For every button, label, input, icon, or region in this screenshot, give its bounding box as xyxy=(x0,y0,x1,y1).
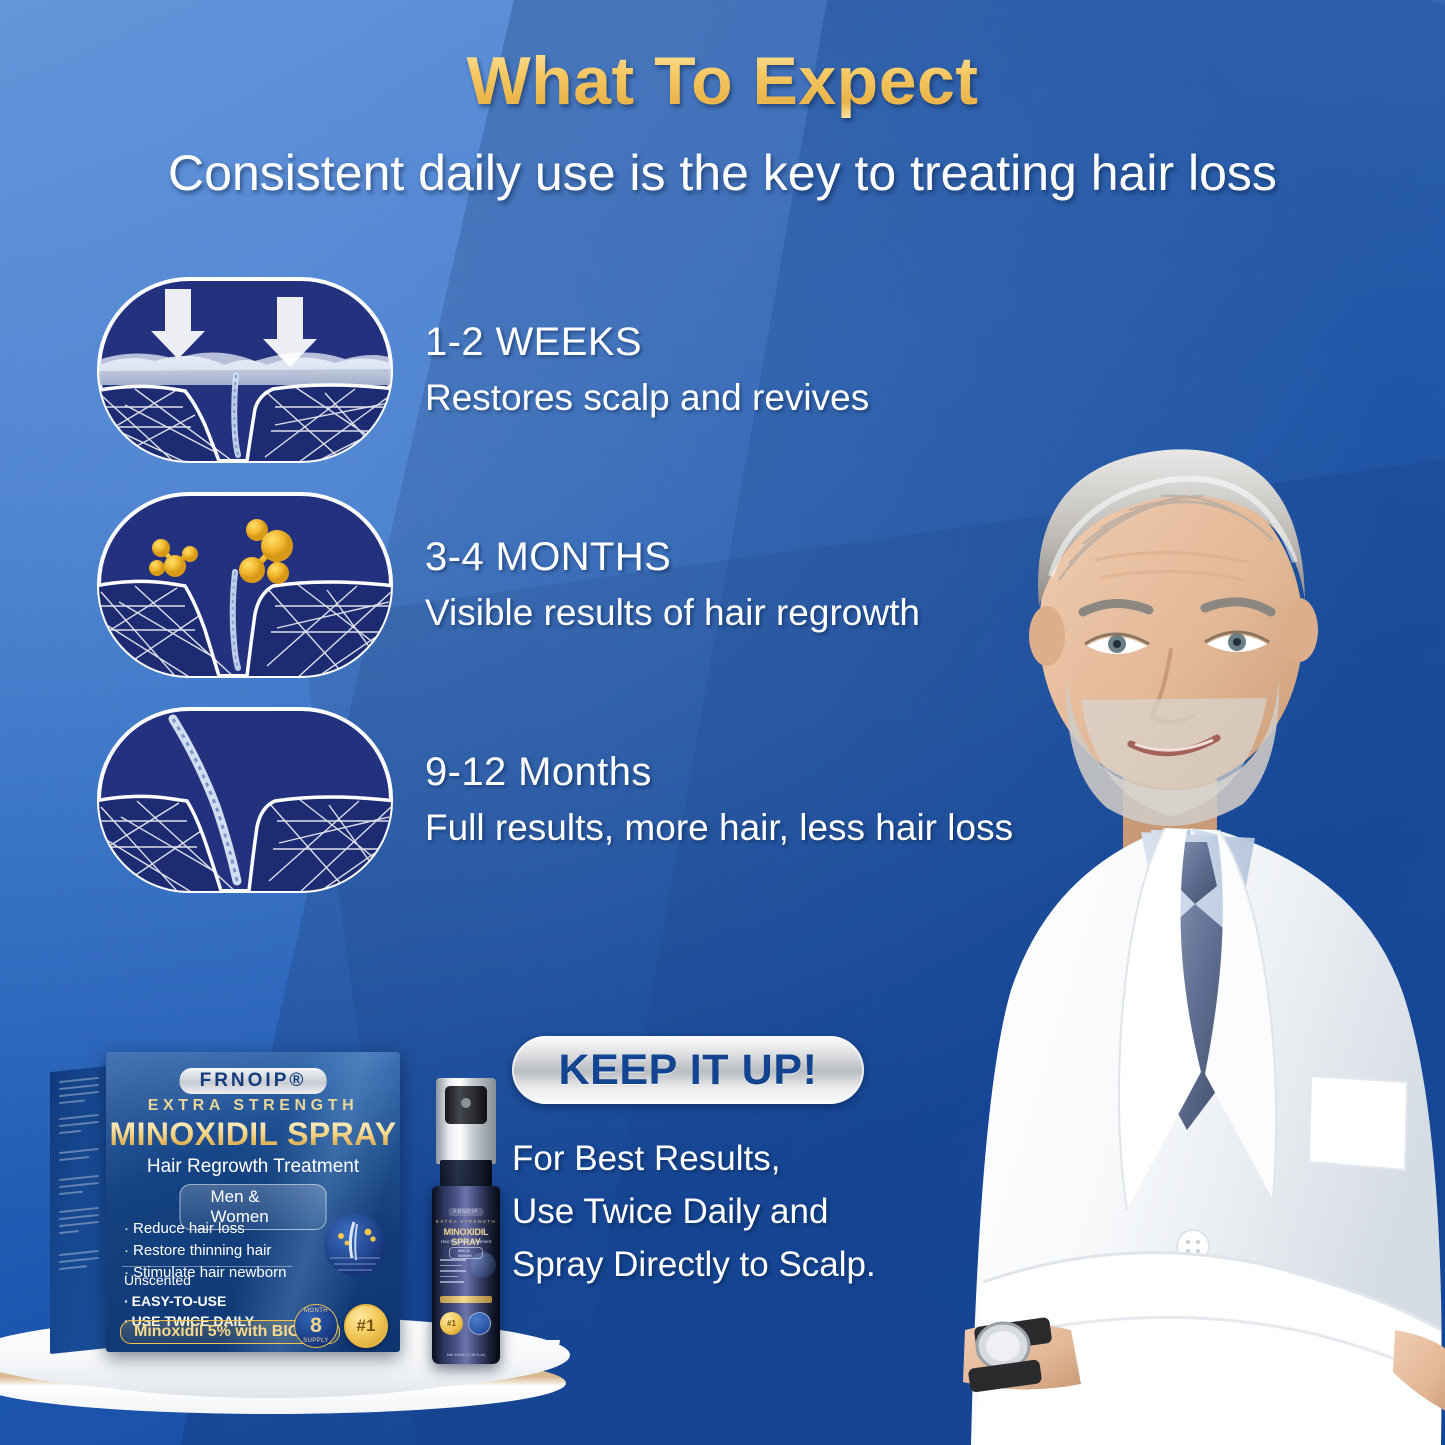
product-box: FRNOIP® EXTRA STRENGTH MINOXIDIL SPRAY H… xyxy=(50,1052,400,1352)
bottle-gold-bar xyxy=(440,1296,492,1303)
rank-one-badge: #1 xyxy=(344,1304,388,1348)
timeline-step-3-title: 9-12 Months xyxy=(425,750,1013,795)
expectation-timeline: 1-2 WEEKS Restores scalp and revives xyxy=(0,262,1060,907)
bottle-nozzle-icon xyxy=(445,1086,487,1124)
page-subtitle: Consistent daily use is the key to treat… xyxy=(0,144,1445,202)
bottle-rank-label: #1 xyxy=(447,1319,456,1328)
product-benefit-2: Restore thinning hair xyxy=(124,1240,286,1262)
bottle-name: MINOXIDIL SPRAY xyxy=(432,1227,500,1247)
bottle-strength: EXTRA STRENGTH xyxy=(432,1219,500,1224)
month-supply-badge-bottom: SUPPLY xyxy=(303,1338,329,1344)
product-feature-1: Unscented xyxy=(124,1270,254,1291)
month-supply-badge: MONTH 8 SUPPLY xyxy=(294,1304,338,1348)
poster-canvas: What To Expect Consistent daily use is t… xyxy=(0,0,1445,1445)
timeline-step-2-text: 3-4 MONTHS Visible results of hair regro… xyxy=(425,535,920,634)
bottle-body: FRNOIP EXTRA STRENGTH MINOXIDIL SPRAY Ha… xyxy=(432,1186,500,1364)
header: What To Expect Consistent daily use is t… xyxy=(0,0,1445,202)
timeline-step-3-text: 9-12 Months Full results, more hair, les… xyxy=(425,750,1013,849)
product-tagline: Hair Regrowth Treatment xyxy=(106,1156,400,1178)
bottle-brand: FRNOIP xyxy=(449,1208,484,1216)
product-box-front: FRNOIP® EXTRA STRENGTH MINOXIDIL SPRAY H… xyxy=(106,1052,400,1352)
keep-it-up-label: KEEP IT UP! xyxy=(558,1046,817,1095)
scalp-strong-hair-icon xyxy=(95,705,395,895)
scalp-flakes-arrows-icon xyxy=(95,275,395,465)
timeline-step-3-4-months: 3-4 MONTHS Visible results of hair regro… xyxy=(0,477,1060,692)
timeline-step-1-desc: Restores scalp and revives xyxy=(425,377,869,419)
product-box-side-panel xyxy=(50,1066,108,1354)
timeline-step-1-text: 1-2 WEEKS Restores scalp and revives xyxy=(425,320,869,419)
rank-one-label: #1 xyxy=(357,1316,376,1336)
timeline-step-1-title: 1-2 WEEKS xyxy=(425,320,869,365)
follicle-illustration-icon xyxy=(324,1214,386,1276)
bottle-audience: Men & Women xyxy=(449,1247,483,1259)
product-box-side-text xyxy=(59,1077,99,1275)
month-supply-badge-top: MONTH xyxy=(304,1308,328,1314)
product-feature-2: EASY-TO-USE xyxy=(124,1291,254,1312)
usage-line-3: Spray Directly to Scalp. xyxy=(512,1238,942,1291)
bottle-secondary-badge xyxy=(468,1312,491,1335)
product-name: MINOXIDIL SPRAY xyxy=(106,1116,400,1153)
timeline-step-2-title: 3-4 MONTHS xyxy=(425,535,920,580)
timeline-step-3-desc: Full results, more hair, less hair loss xyxy=(425,807,1013,849)
bottle-tagline: Hair Regrowth Treatment xyxy=(432,1239,500,1244)
keep-it-up-banner: KEEP IT UP! xyxy=(512,1036,864,1104)
timeline-step-9-12-months: 9-12 Months Full results, more hair, les… xyxy=(0,692,1060,907)
product-brand: FRNOIP® xyxy=(180,1068,327,1094)
product-benefit-1: Reduce hair loss xyxy=(124,1218,286,1240)
bottle-label-bullets xyxy=(440,1259,466,1287)
usage-line-1: For Best Results, xyxy=(512,1132,942,1185)
product-box-divider xyxy=(122,1266,292,1267)
bottle-volume: Net 100ml (3.38 fl.oz) xyxy=(432,1352,500,1357)
spray-bottle: FRNOIP EXTRA STRENGTH MINOXIDIL SPRAY Ha… xyxy=(420,1078,512,1366)
usage-line-2: Use Twice Daily and xyxy=(512,1185,942,1238)
timeline-step-1-2-weeks: 1-2 WEEKS Restores scalp and revives xyxy=(0,262,1060,477)
page-title: What To Expect xyxy=(0,0,1445,120)
doctor-photo xyxy=(955,330,1445,1445)
product-strength: EXTRA STRENGTH xyxy=(106,1097,400,1115)
usage-instructions: For Best Results, Use Twice Daily and Sp… xyxy=(512,1132,942,1292)
scalp-molecules-icon xyxy=(95,490,395,680)
month-supply-badge-number: 8 xyxy=(310,1314,322,1338)
timeline-step-2-desc: Visible results of hair regrowth xyxy=(425,592,920,634)
bottle-rank-badge: #1 xyxy=(440,1312,463,1335)
